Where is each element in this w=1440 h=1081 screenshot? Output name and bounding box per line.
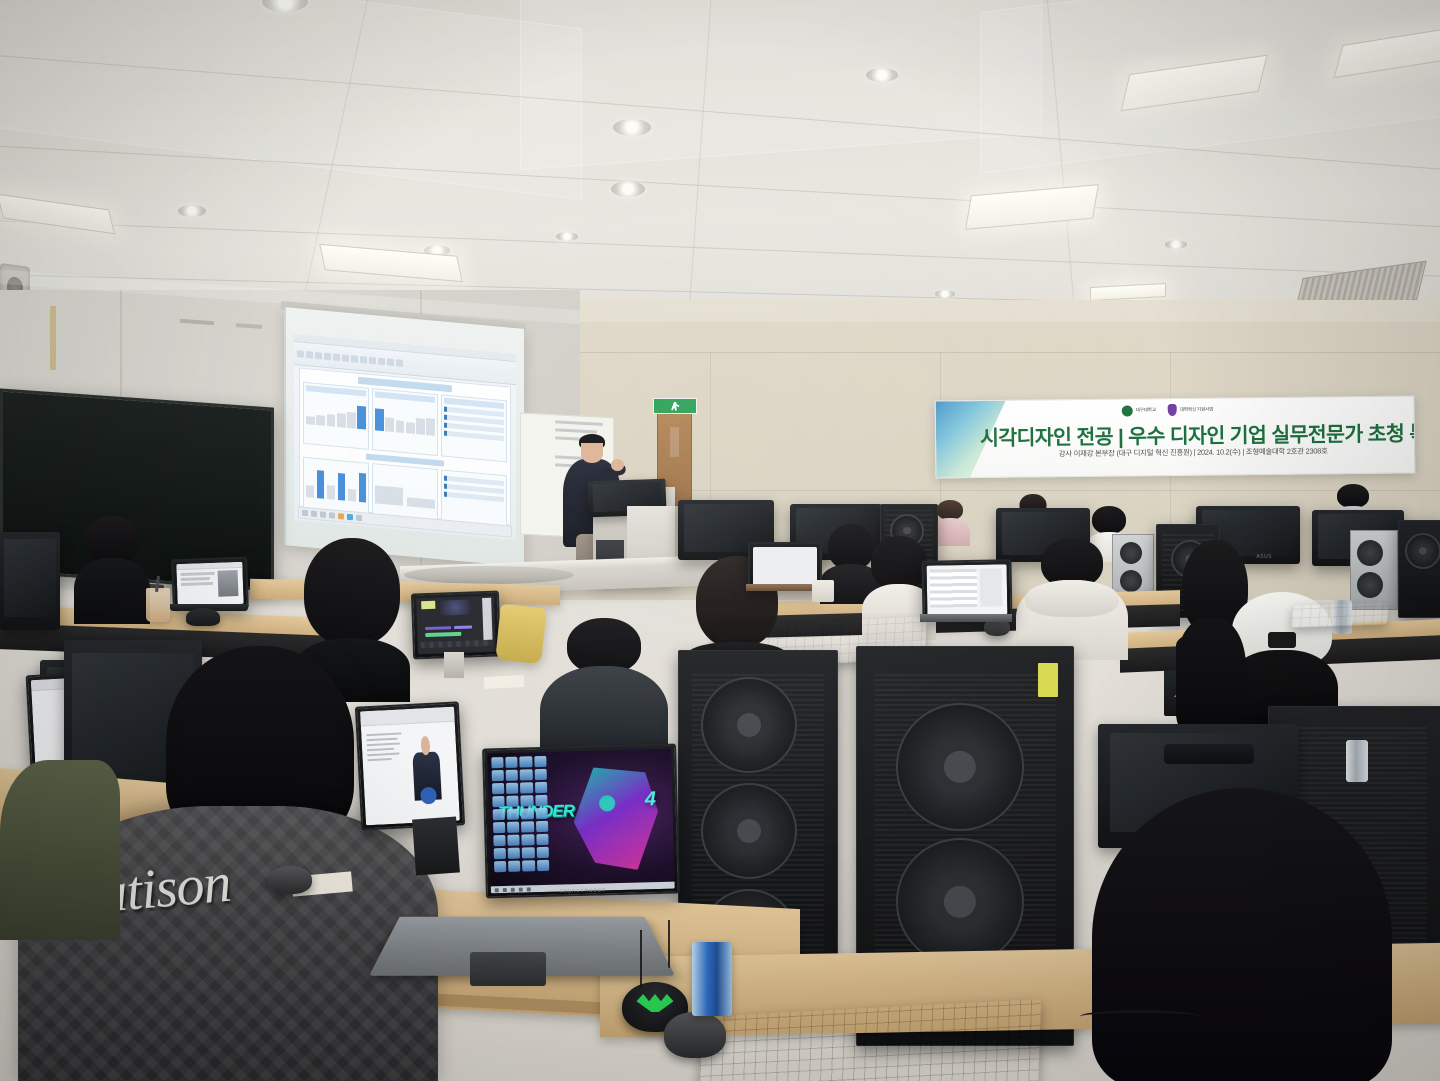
iced-drink-cup	[146, 588, 170, 622]
desktop-icon[interactable]	[521, 821, 534, 832]
razer-logo-icon	[637, 994, 674, 1012]
keyboard[interactable]	[1291, 602, 1389, 627]
presenter-hand	[611, 459, 624, 471]
pc-tower	[1398, 520, 1440, 618]
student	[74, 516, 150, 620]
document-portrait-photo	[406, 728, 448, 807]
taskbar-icon[interactable]	[495, 888, 499, 892]
presenter-face	[581, 443, 603, 463]
desktop-icon[interactable]	[506, 796, 519, 807]
ribbon-button	[342, 354, 349, 362]
pc-tower	[1350, 530, 1398, 610]
desktop-icon[interactable]	[493, 822, 506, 833]
taskbar-icon[interactable]	[511, 887, 515, 891]
taskbar-icon[interactable]	[527, 887, 531, 891]
presenter-head	[579, 434, 605, 464]
desktop-icon[interactable]	[491, 770, 504, 781]
ribbon-button	[351, 355, 358, 363]
program-logo: 대학혁신 지원사업	[1168, 404, 1213, 416]
editing-app	[416, 596, 496, 655]
laptop-screen	[176, 562, 243, 606]
desktop-icon[interactable]	[492, 809, 505, 820]
laptop-base[interactable]	[746, 584, 822, 591]
cap-back-opening	[1268, 632, 1296, 649]
monitor	[0, 532, 60, 630]
student-bottom-right-head	[1092, 788, 1392, 1081]
laptop-touchpad[interactable]	[470, 952, 546, 986]
ceiling-downlight	[1165, 240, 1187, 249]
sticky-note	[421, 601, 435, 609]
wallpaper-character-icon	[572, 766, 659, 872]
ribbon-button	[360, 355, 367, 363]
desktop-icon[interactable]	[507, 809, 520, 820]
student-foreground-shoulder	[0, 760, 120, 940]
tablet-document-screen	[360, 707, 460, 826]
desktop-icon[interactable]	[506, 770, 519, 781]
taskbar-icon[interactable]	[503, 887, 507, 891]
desktop-icon[interactable]	[535, 782, 548, 793]
pencil-case	[1164, 744, 1254, 764]
desktop-icon[interactable]	[493, 835, 506, 846]
portrait-emblem-icon	[420, 787, 437, 805]
desktop-icon[interactable]	[491, 757, 504, 768]
laptop-brand-label: THUNDEROBOT	[560, 887, 606, 893]
banner-logo-row: 대구대학교 대학혁신 지원사업	[1122, 404, 1214, 417]
document-text-block	[366, 732, 403, 764]
tablet-editor	[411, 590, 501, 659]
door-panel	[670, 427, 679, 457]
desktop-icon-grid[interactable]	[491, 756, 550, 886]
desktop-icon[interactable]	[536, 821, 549, 832]
ceiling-panel-light	[1090, 283, 1166, 301]
desktop-icon[interactable]	[536, 834, 549, 845]
preview-pane	[440, 600, 472, 616]
desktop-icon[interactable]	[536, 847, 549, 858]
desktop-icon[interactable]	[520, 769, 533, 780]
gaming-laptop: THUNDER 4	[482, 743, 680, 898]
desktop-icon[interactable]	[521, 808, 534, 819]
round-table	[404, 566, 574, 584]
laptop	[748, 542, 822, 590]
tablet-stand-front	[412, 817, 460, 876]
event-banner: 대구대학교 대학혁신 지원사업 시각디자인 전공 | 우수 디자인 기업 실무전…	[935, 395, 1416, 478]
asset-tag	[1038, 663, 1058, 697]
desktop-icon[interactable]	[522, 834, 535, 845]
tablet-document	[355, 701, 465, 830]
desktop-icon[interactable]	[506, 783, 519, 794]
logo-label: 대구대학교	[1136, 408, 1156, 413]
mouse[interactable]	[268, 866, 312, 894]
desktop-icon[interactable]	[507, 822, 520, 833]
wallpaper-number: 4	[644, 788, 656, 811]
document-viewer	[360, 707, 460, 826]
desktop-icon[interactable]	[534, 769, 547, 780]
right-panel	[482, 598, 492, 640]
taskbar-icon	[311, 511, 317, 518]
desktop-icon[interactable]	[507, 835, 520, 846]
ribbon-button	[306, 351, 313, 359]
timeline-ruler	[421, 639, 493, 648]
ribbon-button	[333, 353, 340, 361]
timeline-clip	[454, 626, 471, 630]
desktop-icon[interactable]	[520, 756, 533, 767]
timeline-clip	[425, 626, 452, 630]
desktop-icon[interactable]	[522, 847, 535, 858]
ceiling-downlight	[613, 119, 651, 136]
chart-panel	[372, 388, 438, 456]
logo-label: 대학혁신 지원사업	[1180, 407, 1213, 412]
ceiling-panel-light	[0, 194, 115, 235]
cable-bundle	[1080, 1010, 1200, 1023]
desktop-icon[interactable]	[493, 848, 506, 859]
exit-sign	[653, 398, 697, 414]
desktop-icon[interactable]	[520, 782, 533, 793]
desktop-icon[interactable]	[535, 795, 548, 806]
desktop-icon[interactable]	[535, 808, 548, 819]
ceiling-downlight	[611, 181, 645, 197]
bar-group	[375, 400, 435, 435]
ribbon-button	[369, 356, 376, 364]
slide-chart-row-top	[303, 382, 507, 463]
desktop-icon[interactable]	[534, 756, 547, 767]
desktop-icon[interactable]	[508, 861, 521, 872]
lecture-hall-photo: 대구대학교 대학혁신 지원사업 시각디자인 전공 | 우수 디자인 기업 실무전…	[0, 0, 1440, 1081]
slide-document-body	[299, 367, 511, 525]
bar-group	[306, 394, 366, 429]
desktop-icon[interactable]	[505, 757, 518, 768]
monitor-brand-label: ASUS	[1256, 554, 1272, 560]
desktop-icon[interactable]	[508, 848, 521, 859]
cable	[668, 920, 670, 968]
student	[1016, 538, 1128, 654]
ceiling-panel-light	[965, 184, 1099, 230]
ribbon-button	[396, 359, 403, 367]
laptop-browser-window	[176, 562, 243, 606]
hoodie-hood	[1025, 580, 1119, 617]
taskbar-icon	[356, 515, 362, 522]
student-hair-long	[1176, 618, 1246, 734]
ceiling-downlight	[866, 68, 898, 82]
tablet-screen	[416, 596, 496, 655]
headphones	[186, 608, 220, 626]
desktop-icon[interactable]	[521, 795, 534, 806]
chart-panel	[303, 382, 369, 450]
ceiling-downlight	[556, 232, 578, 241]
energy-drink-can	[692, 942, 732, 1016]
taskbar-icon	[320, 511, 326, 518]
projected-slide	[294, 334, 516, 540]
ribbon-button	[387, 358, 394, 366]
ribbon-button	[324, 352, 331, 360]
bullet-panel	[441, 394, 507, 462]
taskbar-icon[interactable]	[519, 887, 523, 891]
laptop	[921, 559, 1012, 621]
desktop-icon[interactable]	[492, 783, 505, 794]
university-logo: 대구대학교	[1122, 405, 1156, 416]
cable	[640, 930, 642, 988]
paper-stack	[484, 675, 525, 689]
gaming-laptop-screen: THUNDER 4	[487, 749, 675, 894]
innovation-program-mark-icon	[1168, 404, 1177, 416]
desktop-icon[interactable]	[492, 796, 505, 807]
desktop-icon[interactable]	[537, 860, 550, 871]
student	[540, 618, 668, 758]
taskbar-icon	[329, 512, 335, 519]
taskbar-icon	[302, 510, 308, 517]
desktop-icon[interactable]	[522, 860, 535, 871]
ribbon-button	[315, 351, 322, 359]
taskbar-icon-active	[338, 513, 344, 520]
taskbar-icon	[347, 514, 353, 521]
cup	[812, 580, 834, 602]
tablet-stand	[444, 652, 464, 678]
laptop-screen	[753, 547, 817, 585]
ribbon-button	[378, 357, 385, 365]
ceiling	[0, 0, 1440, 330]
desktop-wallpaper: THUNDER 4	[487, 749, 675, 894]
mouse[interactable]	[664, 1012, 726, 1058]
drink-can	[1346, 740, 1368, 782]
running-person-icon	[671, 402, 680, 411]
timeline-clip	[425, 632, 461, 637]
laptop-base[interactable]	[920, 614, 1012, 622]
ceiling-downlight	[935, 290, 955, 298]
daegu-university-mark-icon	[1122, 405, 1133, 416]
ribbon-button	[297, 350, 304, 358]
desktop-icon[interactable]	[494, 861, 507, 872]
laptop-screen	[927, 564, 1008, 615]
projection-screen	[284, 307, 524, 567]
ceiling-downlight	[178, 205, 206, 217]
